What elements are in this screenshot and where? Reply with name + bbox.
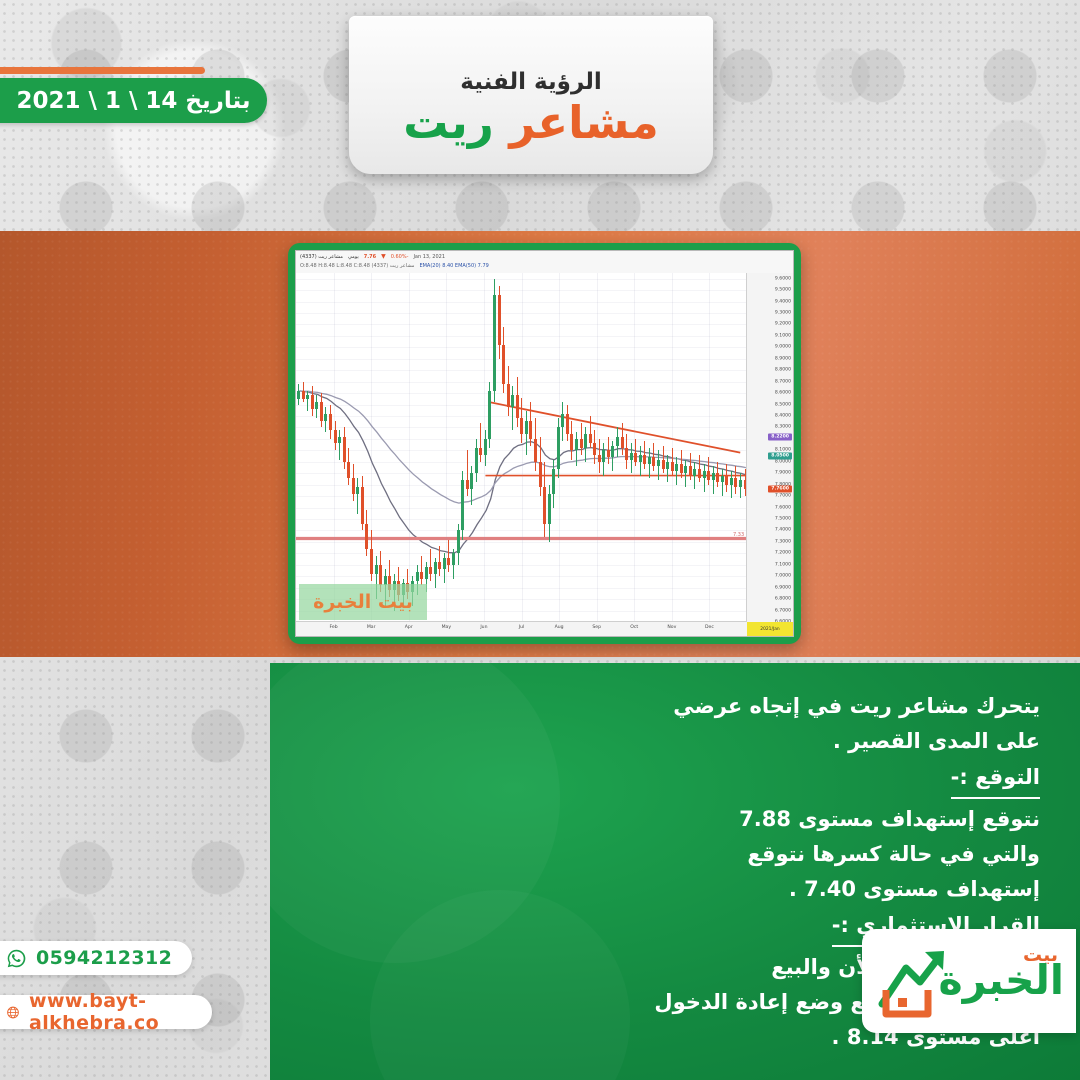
- y-axis-tick: 8.0000: [775, 459, 791, 464]
- candlestick: [634, 273, 637, 622]
- y-axis-tick: 9.6000: [775, 276, 791, 281]
- candlestick: [457, 273, 460, 622]
- y-axis-tick: 9.2000: [775, 322, 791, 327]
- candlestick: [730, 273, 733, 622]
- candlestick: [671, 273, 674, 622]
- y-axis-tick: 8.3000: [775, 425, 791, 430]
- candlestick: [675, 273, 678, 622]
- candlestick: [498, 273, 501, 622]
- candlestick: [393, 273, 396, 622]
- candlestick: [666, 273, 669, 622]
- globe-icon: [6, 1002, 20, 1023]
- date-accent-bar: [0, 67, 205, 74]
- chart-quote-row: مشاعر ريت (4337) يومي 7.76 ▼ -0.60% Jan …: [300, 253, 789, 260]
- brand-logo: بيت الخبرة: [874, 940, 1064, 1022]
- y-axis-tick: 9.5000: [775, 288, 791, 293]
- candlestick: [593, 273, 596, 622]
- y-axis-tick: 6.7000: [775, 608, 791, 613]
- y-axis-tick: 7.9000: [775, 471, 791, 476]
- candlestick: [529, 273, 532, 622]
- candlestick: [525, 273, 528, 622]
- candlestick: [452, 273, 455, 622]
- candlestick: [552, 273, 555, 622]
- candlestick: [324, 273, 327, 622]
- candlestick: [570, 273, 573, 622]
- chart-frame: مشاعر ريت (4337) يومي 7.76 ▼ -0.60% Jan …: [288, 243, 801, 644]
- candlestick: [657, 273, 660, 622]
- candlestick: [693, 273, 696, 622]
- y-axis-tick: 7.4000: [775, 528, 791, 533]
- chart-change-pct: -0.60%: [391, 254, 409, 260]
- candlestick: [616, 273, 619, 622]
- candlestick: [662, 273, 665, 622]
- bayt-alkhebra-chart-watermark: بيت الخبرة: [299, 584, 427, 620]
- candlestick: [488, 273, 491, 622]
- chart-indicators: EMA(20) 8.40 EMA(50) 7.79: [419, 263, 488, 269]
- candlestick: [534, 273, 537, 622]
- y-axis-tick: 7.2000: [775, 551, 791, 556]
- website-contact-pill[interactable]: www.bayt-alkhebra.co: [0, 995, 212, 1029]
- candlestick: [320, 273, 323, 622]
- candlestick: [493, 273, 496, 622]
- whatsapp-number: 0594212312: [36, 947, 172, 969]
- candlestick: [625, 273, 628, 622]
- y-axis-tick: 8.7000: [775, 379, 791, 384]
- candlestick: [611, 273, 614, 622]
- candlestick: [502, 273, 505, 622]
- candlestick: [447, 273, 450, 622]
- candlestick: [716, 273, 719, 622]
- candlestick: [575, 273, 578, 622]
- candlestick: [420, 273, 423, 622]
- y-axis-tick: 8.9000: [775, 356, 791, 361]
- candlestick: [621, 273, 624, 622]
- brand-logo-card[interactable]: بيت الخبرة: [862, 929, 1076, 1033]
- candlestick: [684, 273, 687, 622]
- candlestick: [648, 273, 651, 622]
- candlestick: [329, 273, 332, 622]
- candlestick: [343, 273, 346, 622]
- candlestick: [484, 273, 487, 622]
- candlestick: [680, 273, 683, 622]
- candlestick: [584, 273, 587, 622]
- candlestick: [388, 273, 391, 622]
- y-axis-tick: 7.0000: [775, 574, 791, 579]
- candlestick: [539, 273, 542, 622]
- candlestick: [365, 273, 368, 622]
- candlestick: [443, 273, 446, 622]
- x-axis-tick: Apr: [405, 625, 413, 630]
- candlestick: [698, 273, 701, 622]
- candlestick: [652, 273, 655, 622]
- y-axis-tick: 6.8000: [775, 597, 791, 602]
- chart-last-price: 7.76: [364, 254, 376, 260]
- analysis-line-2: على المدى القصير .: [310, 724, 1040, 759]
- candlestick: [566, 273, 569, 622]
- candlestick: [416, 273, 419, 622]
- title-company-orange: مشاعر: [509, 96, 658, 149]
- y-axis-tick: 9.3000: [775, 311, 791, 316]
- analysis-line-4: والتي في حالة كسرها نتوقع: [310, 837, 1040, 872]
- forecast-heading-wrap: التوقع :-: [310, 760, 1040, 802]
- candlestick: [302, 273, 305, 622]
- y-axis-tick: 9.0000: [775, 345, 791, 350]
- date-badge: بتاريخ 14 \ 1 \ 2021: [0, 78, 267, 123]
- candlestick: [543, 273, 546, 622]
- y-axis-tick: 7.6000: [775, 505, 791, 510]
- website-url: www.bayt-alkhebra.co: [29, 990, 194, 1034]
- candlestick: [639, 273, 642, 622]
- x-axis-tick: Sep: [592, 625, 601, 630]
- candlestick: [707, 273, 710, 622]
- price-marker: 8.0500: [768, 453, 792, 460]
- whatsapp-icon: [6, 948, 27, 969]
- candlestick: [520, 273, 523, 622]
- candlestick: [725, 273, 728, 622]
- brand-word-main: الخبرة: [939, 960, 1064, 1001]
- x-axis-tick: Jul: [519, 625, 525, 630]
- y-axis-tick: 7.7000: [775, 494, 791, 499]
- title-card: الرؤية الفنية مشاعر ريت: [349, 16, 713, 174]
- candlestick: [739, 273, 742, 622]
- candlestick: [402, 273, 405, 622]
- y-axis-tick: 7.1000: [775, 562, 791, 567]
- candlestick: [411, 273, 414, 622]
- x-axis-tick: Nov: [667, 625, 676, 630]
- candlestick: [557, 273, 560, 622]
- candlestick: [580, 273, 583, 622]
- candlestick: [334, 273, 337, 622]
- candlestick: [475, 273, 478, 622]
- candlestick: [361, 273, 364, 622]
- y-axis-tick: 8.5000: [775, 402, 791, 407]
- candlestick: [589, 273, 592, 622]
- y-axis-tick: 8.8000: [775, 368, 791, 373]
- candlestick: [438, 273, 441, 622]
- chart-plot-area[interactable]: 7.33: [296, 273, 747, 622]
- candlestick: [721, 273, 724, 622]
- y-axis-tick: 9.4000: [775, 299, 791, 304]
- chart-x-axis: FebMarAprMayJunJulAugSepOctNovDec: [296, 621, 747, 636]
- candlestick: [434, 273, 437, 622]
- candlestick: [384, 273, 387, 622]
- x-axis-tick: Dec: [705, 625, 714, 630]
- candlestick: [607, 273, 610, 622]
- candlestick: [479, 273, 482, 622]
- candlestick: [516, 273, 519, 622]
- candlestick: [338, 273, 341, 622]
- x-axis-tick: Aug: [555, 625, 564, 630]
- y-axis-tick: 6.9000: [775, 585, 791, 590]
- x-axis-tick: May: [442, 625, 452, 630]
- candlestick: [429, 273, 432, 622]
- candlestick: [406, 273, 409, 622]
- candlestick: [643, 273, 646, 622]
- price-marker: 8.2200: [768, 433, 792, 440]
- chart-ticker-name: مشاعر ريت (4337): [300, 254, 343, 260]
- title-company-green: ريت: [403, 96, 493, 149]
- candlestick: [511, 273, 514, 622]
- candlestick: [425, 273, 428, 622]
- candlestick: [598, 273, 601, 622]
- whatsapp-contact-pill[interactable]: 0594212312: [0, 941, 192, 975]
- forecast-heading: التوقع :-: [951, 760, 1040, 799]
- candlestick: [311, 273, 314, 622]
- candlestick: [297, 273, 300, 622]
- analysis-line-1: يتحرك مشاعر ريت في إتجاه عرضي: [310, 689, 1040, 724]
- candlestick: [507, 273, 510, 622]
- candlestick: [561, 273, 564, 622]
- candlestick: [461, 273, 464, 622]
- candlestick: [466, 273, 469, 622]
- page-subtitle: الرؤية الفنية: [460, 69, 602, 95]
- chart-y-axis: 9.60009.50009.40009.30009.20009.10009.00…: [746, 273, 793, 622]
- chart-container[interactable]: مشاعر ريت (4337) يومي 7.76 ▼ -0.60% Jan …: [295, 250, 794, 637]
- chart-ohlc: مشاعر ريت (4337) O:8.48 H:8.48 L:8.48 C:…: [300, 263, 414, 269]
- candlestick: [347, 273, 350, 622]
- candlestick: [548, 273, 551, 622]
- x-axis-tick: Oct: [630, 625, 638, 630]
- chart-current-date-tag: 2021/Jan: [747, 622, 793, 636]
- y-axis-tick: 8.4000: [775, 414, 791, 419]
- candlestick: [630, 273, 633, 622]
- candlestick: [352, 273, 355, 622]
- candlestick: [689, 273, 692, 622]
- page-title: مشاعر ريت: [403, 99, 658, 148]
- candlestick: [315, 273, 318, 622]
- candlestick: [602, 273, 605, 622]
- candlestick: [734, 273, 737, 622]
- analysis-line-5: إستهداف مستوى 7.40 .: [310, 872, 1040, 907]
- down-arrow-icon: ▼: [381, 253, 386, 260]
- candlestick: [306, 273, 309, 622]
- candlestick: [356, 273, 359, 622]
- candlestick: [370, 273, 373, 622]
- candlestick: [375, 273, 378, 622]
- y-axis-tick: 7.5000: [775, 517, 791, 522]
- candlestick: [703, 273, 706, 622]
- candlestick: [379, 273, 382, 622]
- candlestick: [470, 273, 473, 622]
- chart-timeframe: يومي: [348, 254, 359, 260]
- chart-ohlc-row: مشاعر ريت (4337) O:8.48 H:8.48 L:8.48 C:…: [300, 263, 789, 269]
- chart-quote-date: Jan 13, 2021: [413, 254, 445, 260]
- candlestick: [712, 273, 715, 622]
- x-axis-tick: Mar: [367, 625, 376, 630]
- candlestick: [397, 273, 400, 622]
- price-marker: 7.7600: [768, 486, 792, 493]
- chart-header: مشاعر ريت (4337) يومي 7.76 ▼ -0.60% Jan …: [296, 251, 793, 274]
- x-axis-tick: Feb: [330, 625, 338, 630]
- y-axis-tick: 7.3000: [775, 539, 791, 544]
- analysis-line-3: نتوقع إستهداف مستوى 7.88: [310, 802, 1040, 837]
- y-axis-tick: 9.1000: [775, 333, 791, 338]
- x-axis-tick: Jun: [480, 625, 487, 630]
- y-axis-tick: 8.6000: [775, 391, 791, 396]
